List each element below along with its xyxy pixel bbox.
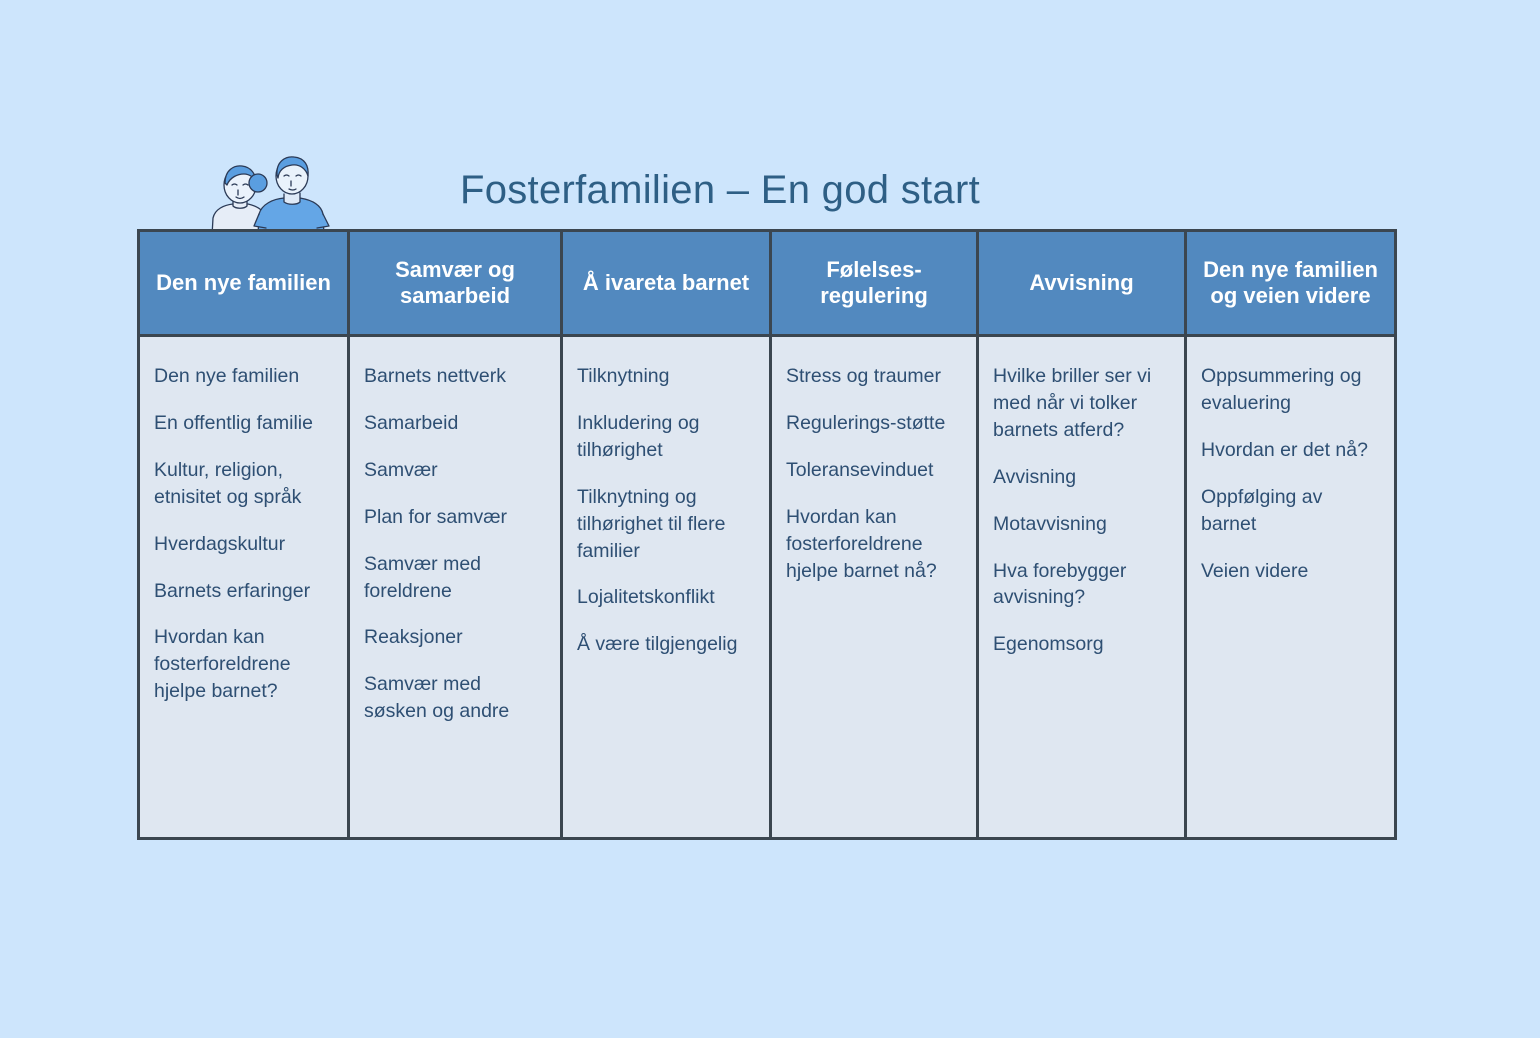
program-table: Den nye familien Samvær og samarbeid Å i… <box>137 229 1397 840</box>
column-header-folelsesregulering[interactable]: Følelses-regulering <box>772 232 979 334</box>
topic-item: Hverdagskultur <box>154 531 334 558</box>
topic-item: Stress og traumer <box>786 363 963 390</box>
column-body-samvaer-og-samarbeid: Barnets nettverk Samarbeid Samvær Plan f… <box>350 337 563 837</box>
column-body-den-nye-familien-og-veien-videre: Oppsummering og evaluering Hvordan er de… <box>1187 337 1394 837</box>
table-body-row: Den nye familien En offentlig familie Ku… <box>140 337 1394 837</box>
topic-item: Lojalitetskonflikt <box>577 584 756 611</box>
column-header-den-nye-familien-og-veien-videre[interactable]: Den nye familien og veien videre <box>1187 232 1394 334</box>
topic-item: Hva forebygger avvisning? <box>993 558 1171 612</box>
topic-item: Samvær med foreldrene <box>364 551 547 605</box>
two-people-illustration <box>196 152 332 236</box>
topic-item: Oppfølging av barnet <box>1201 484 1381 538</box>
column-header-a-ivareta-barnet[interactable]: Å ivareta barnet <box>563 232 772 334</box>
topic-item: Avvisning <box>993 464 1171 491</box>
topic-item: Samvær med søsken og andre <box>364 671 547 725</box>
column-body-den-nye-familien: Den nye familien En offentlig familie Ku… <box>140 337 350 837</box>
topic-item: Regulerings-støtte <box>786 410 963 437</box>
topic-item: Veien videre <box>1201 558 1381 585</box>
topic-item: Tilknytning og tilhørighet til flere fam… <box>577 484 756 565</box>
topic-item: Plan for samvær <box>364 504 547 531</box>
topic-item: Hvilke briller ser vi med når vi tolker … <box>993 363 1171 444</box>
topic-item: Den nye familien <box>154 363 334 390</box>
slide-canvas: Fosterfamilien – En god start Den nye fa… <box>0 0 1540 1038</box>
topic-item: Hvordan kan fosterforeldrene hjelpe barn… <box>786 504 963 585</box>
column-header-den-nye-familien[interactable]: Den nye familien <box>140 232 350 334</box>
column-body-folelsesregulering: Stress og traumer Regulerings-støtte Tol… <box>772 337 979 837</box>
page-title: Fosterfamilien – En god start <box>330 168 1110 213</box>
topic-item: Oppsummering og evaluering <box>1201 363 1381 417</box>
topic-item: Motavvisning <box>993 511 1171 538</box>
column-header-avvisning[interactable]: Avvisning <box>979 232 1187 334</box>
topic-item: Egenomsorg <box>993 631 1171 658</box>
topic-item: En offentlig familie <box>154 410 334 437</box>
topic-item: Barnets erfaringer <box>154 578 334 605</box>
topic-item: Toleransevinduet <box>786 457 963 484</box>
topic-item: Reaksjoner <box>364 624 547 651</box>
column-header-samvaer-og-samarbeid[interactable]: Samvær og samarbeid <box>350 232 563 334</box>
topic-item: Samarbeid <box>364 410 547 437</box>
table-header-row: Den nye familien Samvær og samarbeid Å i… <box>140 232 1394 337</box>
column-body-avvisning: Hvilke briller ser vi med når vi tolker … <box>979 337 1187 837</box>
topic-item: Tilknytning <box>577 363 756 390</box>
topic-item: Hvordan er det nå? <box>1201 437 1381 464</box>
topic-item: Å være tilgjengelig <box>577 631 756 658</box>
column-body-a-ivareta-barnet: Tilknytning Inkludering og tilhørighet T… <box>563 337 772 837</box>
topic-item: Kultur, religion, etnisitet og språk <box>154 457 334 511</box>
topic-item: Barnets nettverk <box>364 363 547 390</box>
topic-item: Hvordan kan fosterforeldrene hjelpe barn… <box>154 624 334 705</box>
topic-item: Samvær <box>364 457 547 484</box>
topic-item: Inkludering og tilhørighet <box>577 410 756 464</box>
